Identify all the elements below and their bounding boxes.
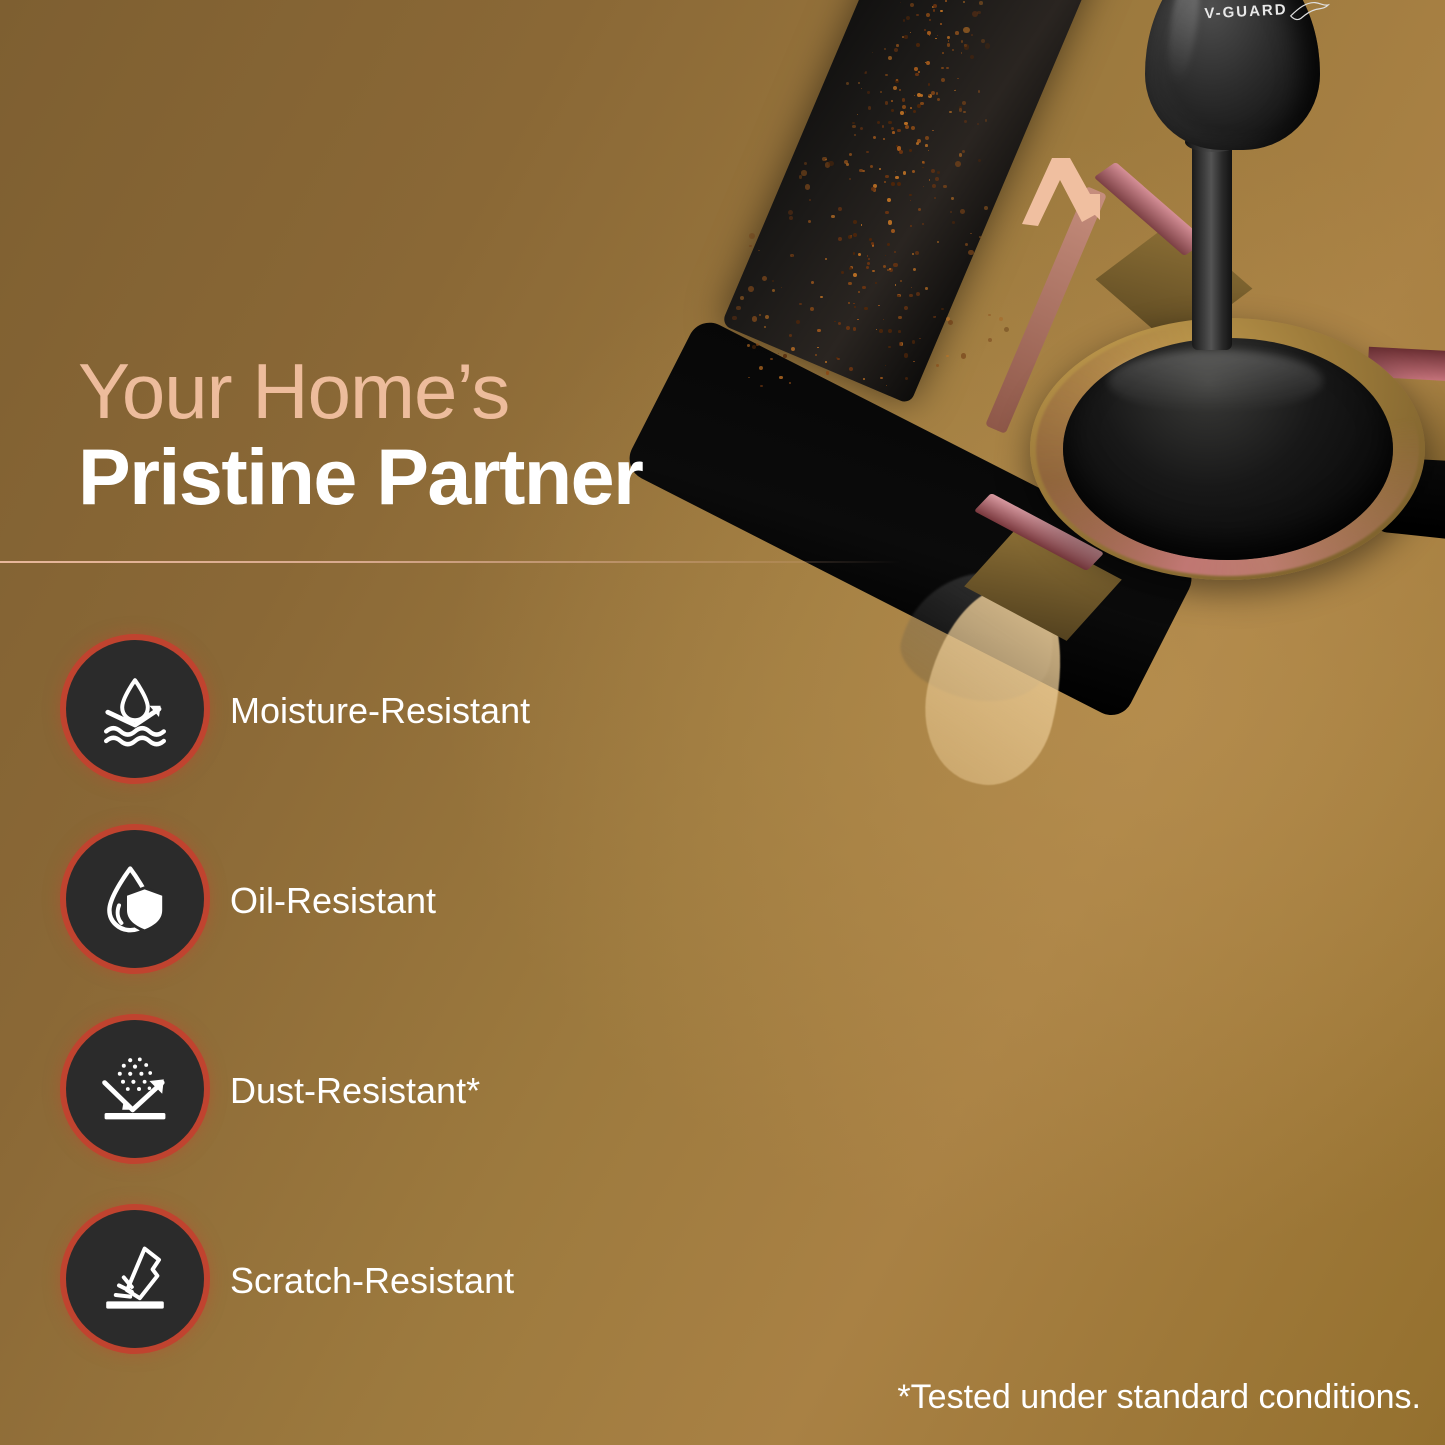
blade-root-rose-a xyxy=(1094,162,1207,256)
headline-line-1: Your Home’s xyxy=(78,352,898,432)
feature-list: Moisture-Resistant Oil-Resistant xyxy=(66,640,686,1400)
dust-particles-bounce-icon xyxy=(95,1049,175,1129)
motor-housing-ring xyxy=(1030,318,1425,580)
headline-line-2: Pristine Partner xyxy=(78,434,898,519)
motor-housing-rose-sheen xyxy=(1036,322,1419,576)
dust-particle-spray xyxy=(735,0,1095,400)
headline-block: Your Home’s Pristine Partner xyxy=(78,352,898,519)
moisture-droplet-bounce-icon xyxy=(95,669,175,749)
blade-root-rose-b xyxy=(974,493,1104,571)
blade-root-gold-b xyxy=(964,525,1122,641)
feature-icon-badge xyxy=(66,640,204,778)
chevron-logo-icon xyxy=(1012,150,1107,230)
feature-item-moisture: Moisture-Resistant xyxy=(66,640,686,830)
oil-droplet-shield-icon xyxy=(95,859,175,939)
blade-root-gold-a xyxy=(1096,220,1253,347)
feature-item-scratch: Scratch-Resistant xyxy=(66,1210,686,1400)
product-poster: V-GUARD Your Home’s Pristine Partner xyxy=(0,0,1445,1445)
feature-item-oil: Oil-Resistant xyxy=(66,830,686,1020)
vguard-brand-logo: V-GUARD xyxy=(1204,0,1336,45)
fan-blade-right-gold-trim xyxy=(1370,365,1445,467)
motor-housing-gloss xyxy=(1108,350,1323,412)
feature-label: Dust-Resistant* xyxy=(230,1070,480,1112)
blade-shadow-highlight xyxy=(892,554,1069,716)
feature-icon-badge xyxy=(66,830,204,968)
fan-blade-right-rose-trim xyxy=(1367,347,1445,387)
kangaroo-icon xyxy=(1288,0,1331,25)
fan-blade-top xyxy=(721,0,1160,405)
feature-icon-badge xyxy=(66,1020,204,1158)
fan-downrod xyxy=(1192,60,1232,350)
feature-icon-badge xyxy=(66,1210,204,1348)
fan-blade-right xyxy=(1373,382,1445,558)
footnote-text: *Tested under standard conditions. xyxy=(897,1378,1421,1417)
motor-housing-face xyxy=(1063,338,1393,560)
headline-divider xyxy=(0,561,900,563)
feature-item-dust: Dust-Resistant* xyxy=(66,1020,686,1210)
feature-label: Scratch-Resistant xyxy=(230,1260,514,1302)
scratch-blade-surface-icon xyxy=(95,1239,175,1319)
fan-blade-top-edge-trim xyxy=(985,186,1107,434)
feature-label: Oil-Resistant xyxy=(230,880,436,922)
blade-light-cone xyxy=(908,572,1083,798)
feature-label: Moisture-Resistant xyxy=(230,690,530,732)
fan-canopy xyxy=(1145,0,1320,150)
canopy-collar xyxy=(1185,132,1241,152)
vguard-wordmark: V-GUARD xyxy=(1204,1,1288,22)
